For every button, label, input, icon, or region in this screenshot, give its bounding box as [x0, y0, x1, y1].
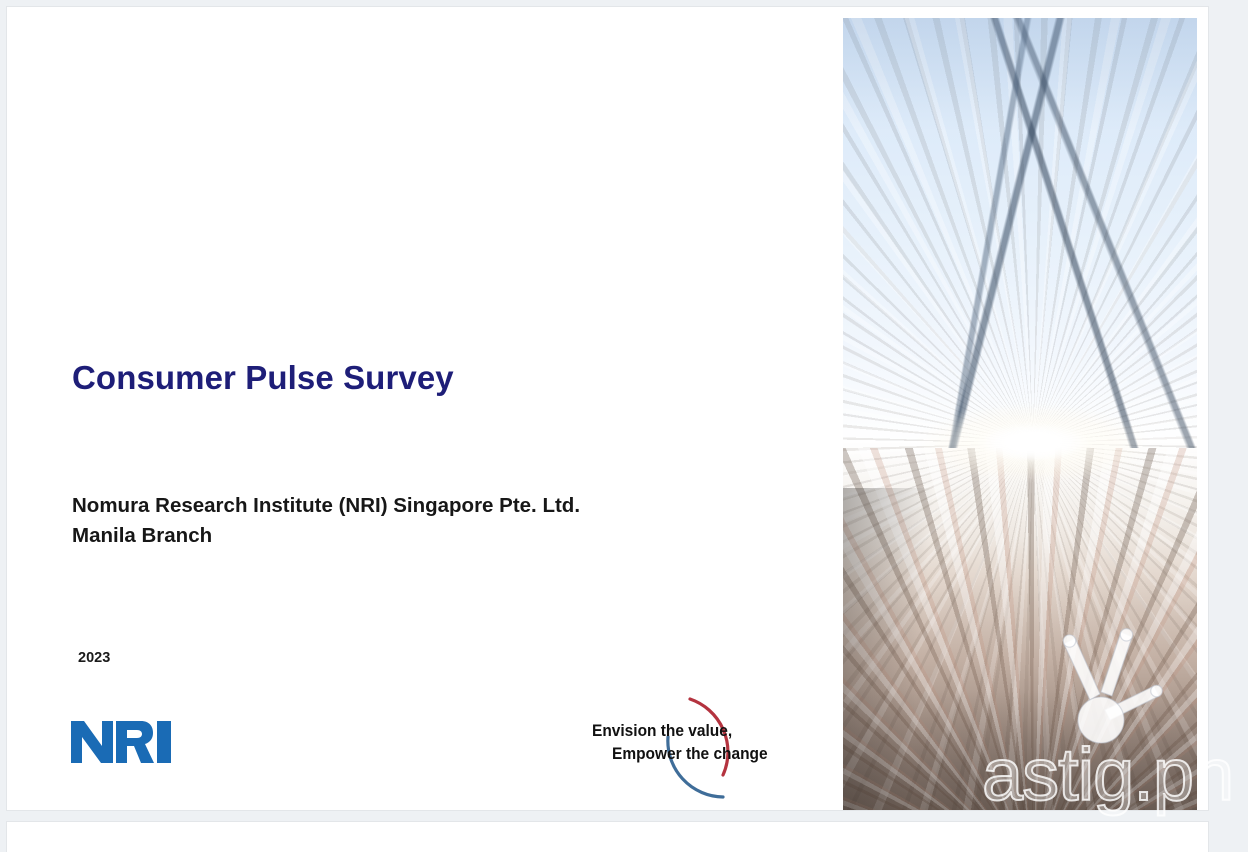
organization-line-2: Manila Branch — [72, 521, 580, 551]
hero-vignette-layer — [843, 18, 1197, 810]
tagline-line-2: Empower the change — [592, 742, 815, 765]
slide-page: Consumer Pulse Survey Nomura Research In… — [7, 7, 1208, 810]
year-label: 2023 — [78, 650, 110, 666]
organization-line-1: Nomura Research Institute (NRI) Singapor… — [72, 491, 580, 521]
tagline-lockup: Envision the value, Empower the change — [592, 675, 837, 810]
next-slide-page — [7, 822, 1208, 852]
tagline-line-1: Envision the value, — [592, 719, 815, 742]
organization-block: Nomura Research Institute (NRI) Singapor… — [72, 491, 580, 551]
nri-logo — [71, 719, 171, 765]
page-title: Consumer Pulse Survey — [72, 359, 454, 397]
tagline-text: Envision the value, Empower the change — [592, 719, 815, 765]
document-viewer[interactable]: Consumer Pulse Survey Nomura Research In… — [0, 0, 1248, 852]
hero-image — [843, 18, 1197, 810]
